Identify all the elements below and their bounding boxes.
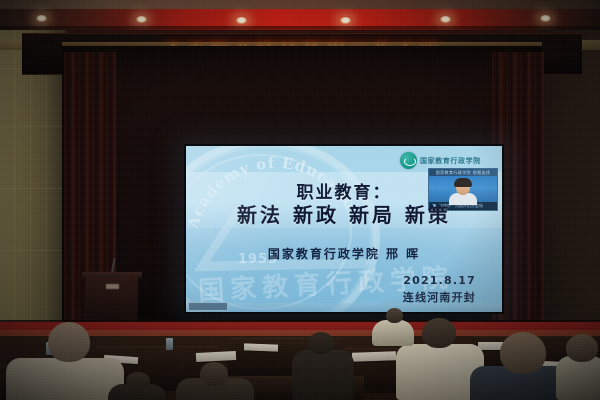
pip-title-text: 国家教育行政学院 视频连线 xyxy=(436,170,490,176)
slide-author: 国家教育行政学院 邢 晖 xyxy=(186,245,502,262)
spotlight-4 xyxy=(340,17,351,24)
desk-papers-2 xyxy=(244,343,278,351)
audience-person-6-torso xyxy=(556,356,600,400)
spotlight-1 xyxy=(36,15,47,22)
spotlight-3 xyxy=(236,17,247,24)
ceiling-soffit xyxy=(0,0,600,9)
taskbar-button[interactable] xyxy=(188,302,228,311)
left-wall-panels xyxy=(0,30,66,330)
spotlight-2 xyxy=(136,16,147,23)
spotlight-6 xyxy=(540,15,551,22)
audience-person-7-head xyxy=(126,372,150,390)
slide-logo-text: 国家教育行政学院 xyxy=(420,156,481,166)
water-cup-2 xyxy=(166,338,173,350)
audience-person-1-torso xyxy=(6,358,124,400)
podium-reading-light xyxy=(106,284,119,289)
audience-person-3-torso xyxy=(292,350,354,400)
projection-screen-frame: Academy of Education 1955 国家教育行政学院 国家教育行… xyxy=(184,144,504,314)
slide-logo: 国家教育行政学院 xyxy=(400,152,481,169)
audience-person-6-head xyxy=(566,334,598,362)
audience-person-3-head xyxy=(308,332,334,354)
podium xyxy=(86,276,138,322)
academy-emblem-icon xyxy=(400,152,417,169)
right-wall xyxy=(540,30,600,330)
pip-title-bar: 国家教育行政学院 视频连线 xyxy=(429,169,497,176)
conference-hall-photo: 全省职业院校教学工作会议 Academy of Education 1955 国… xyxy=(0,0,600,400)
audience-person-2-head xyxy=(200,362,228,386)
audience-person-5-head xyxy=(500,332,546,374)
audience-person-8-head xyxy=(386,308,403,323)
audience-person-8-torso xyxy=(372,320,414,346)
audience-person-4-head xyxy=(422,318,456,348)
slide-taskbar xyxy=(186,303,502,312)
audience-person-1-head xyxy=(48,322,90,362)
desk-papers-3 xyxy=(352,351,396,362)
projection-screen: Academy of Education 1955 国家教育行政学院 国家教育行… xyxy=(186,146,502,312)
slide-title-line2: 新法 新政 新局 新策 xyxy=(186,199,502,228)
spotlight-5 xyxy=(440,16,451,23)
slide-date: 2021.8.17 xyxy=(403,274,476,287)
